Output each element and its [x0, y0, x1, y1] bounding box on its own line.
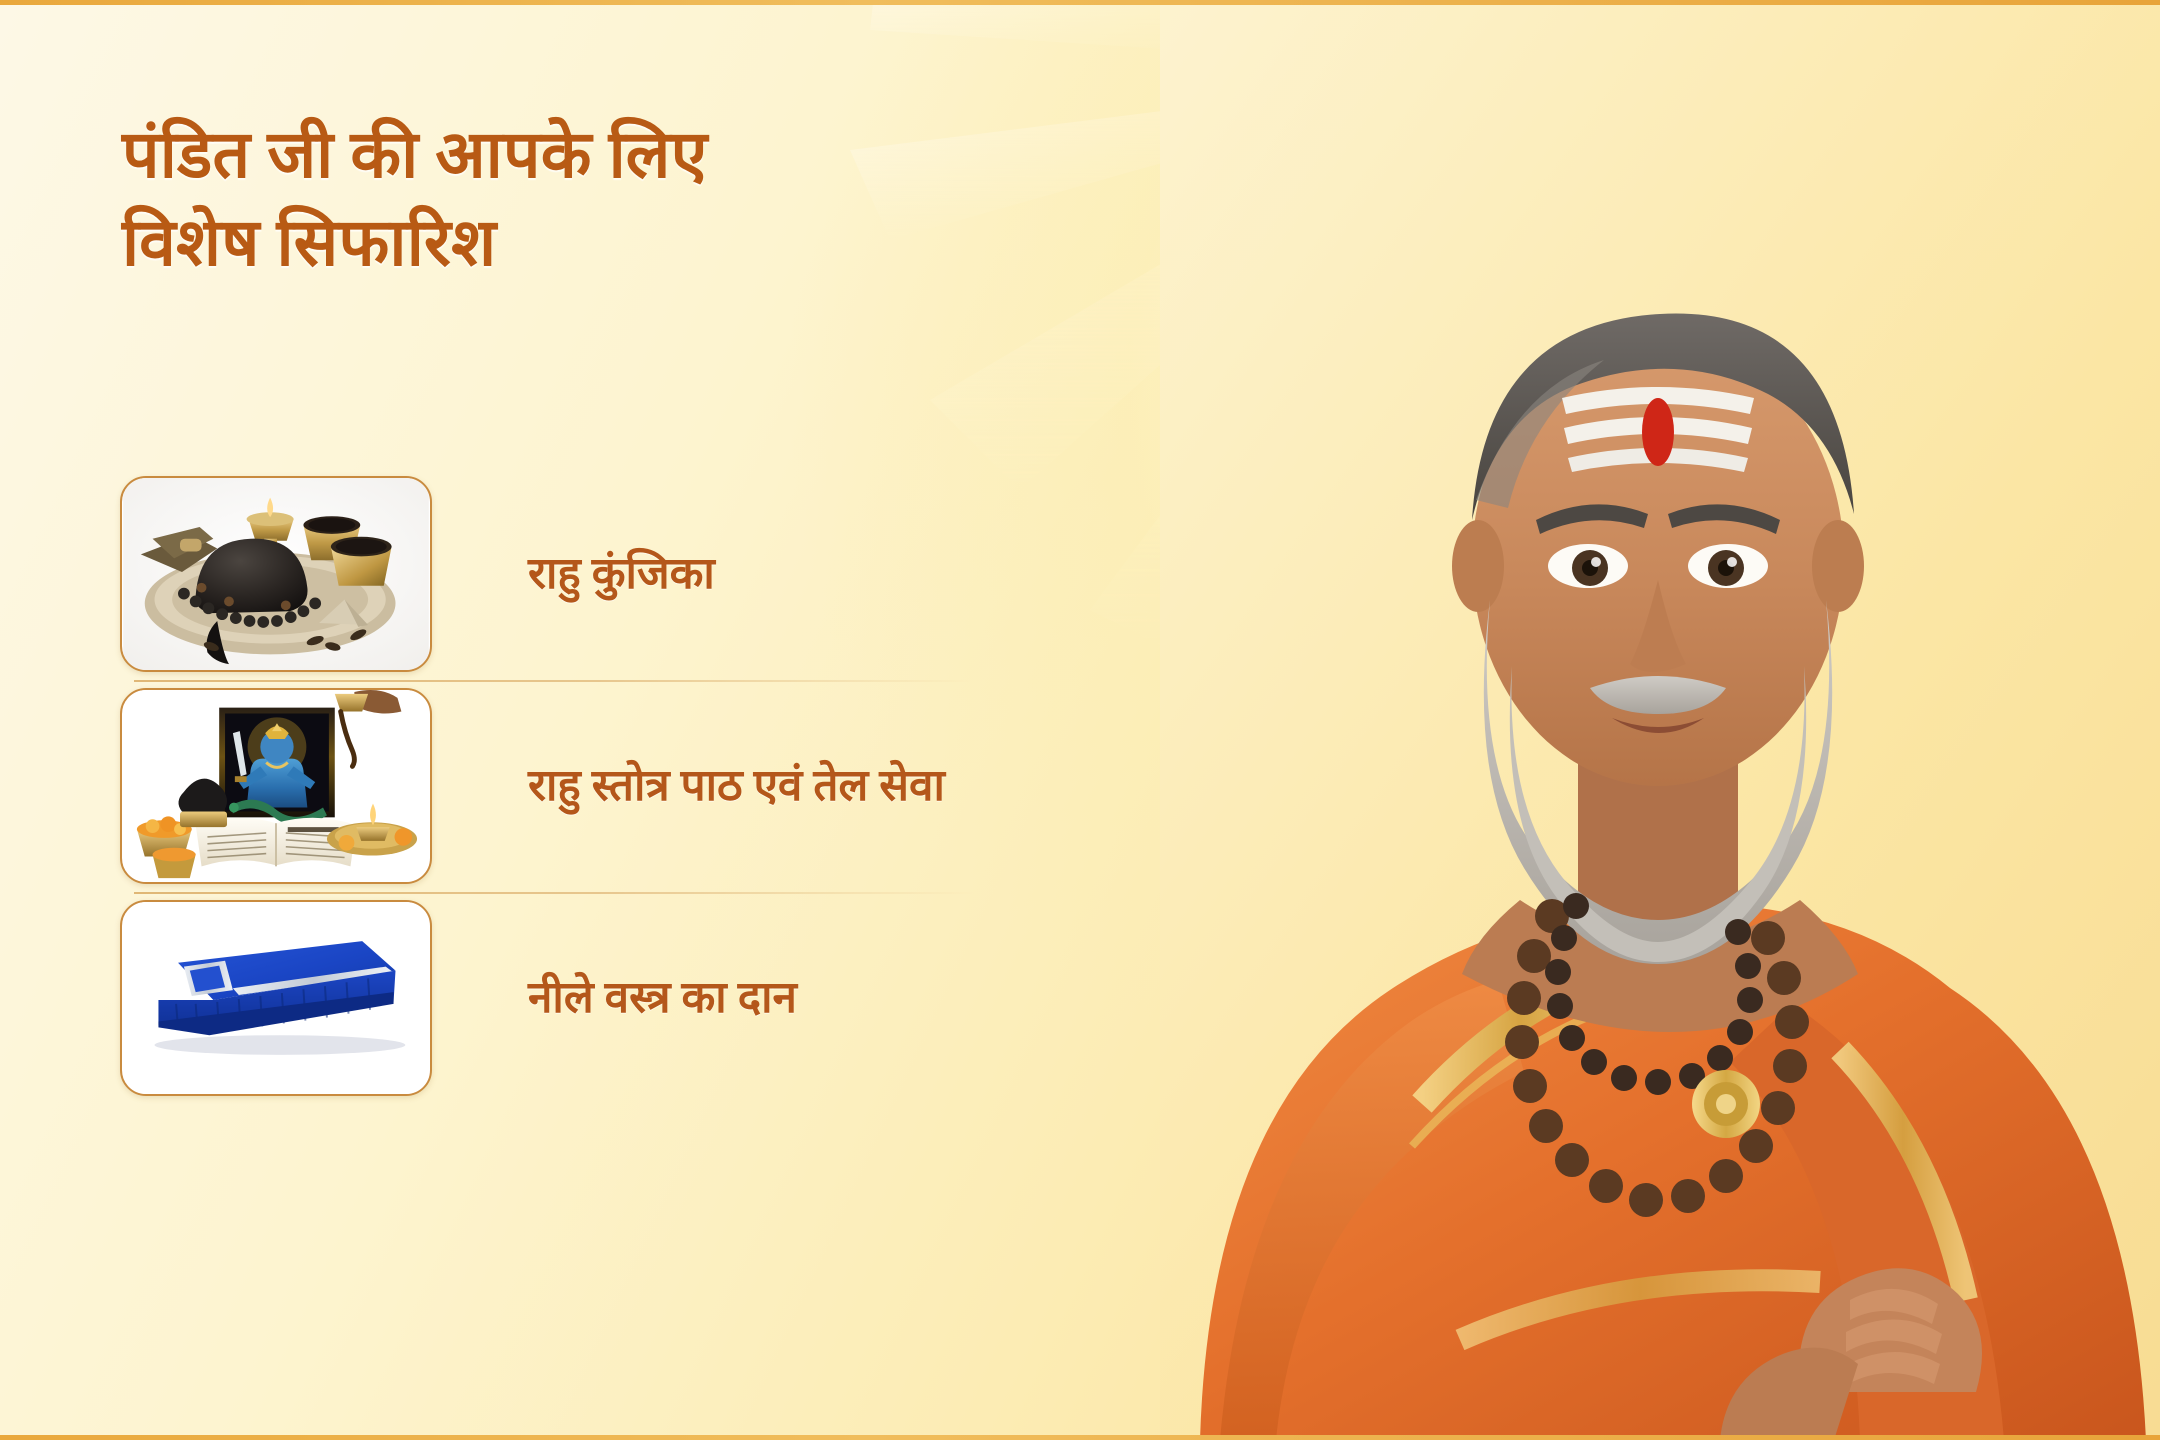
list-item-label: राहु स्तोत्र पाठ एवं तेल सेवा: [432, 760, 1160, 813]
list-item[interactable]: नीले वस्त्र का दान: [120, 892, 1160, 1104]
list-item-label: राहु कुंजिका: [432, 548, 1160, 601]
page-title-line-2: विशेष सिफारिश: [122, 200, 1182, 288]
page-title-line-1: पंडित जी की आपके लिए: [122, 112, 1182, 200]
bottom-gold-rule: [0, 1435, 2160, 1440]
recommendation-list: राहु कुंजिका: [120, 468, 1160, 1104]
pandit-ji-portrait: [1160, 0, 2160, 1440]
top-gold-rule: [0, 0, 2160, 5]
rahu-idol-book-oil-offering-thumbnail[interactable]: [120, 688, 432, 884]
content-column: पंडित जी की आपके लिए विशेष सिफारिश: [0, 0, 1220, 1440]
promo-banner: पंडित जी की आपके लिए विशेष सिफारिश: [0, 0, 2160, 1440]
list-item[interactable]: राहु स्तोत्र पाठ एवं तेल सेवा: [120, 680, 1160, 892]
puja-thali-black-cloth-rudraksha-thumbnail[interactable]: [120, 476, 432, 672]
folded-blue-cloth-thumbnail[interactable]: [120, 900, 432, 1096]
list-item[interactable]: राहु कुंजिका: [120, 468, 1160, 680]
list-item-label: नीले वस्त्र का दान: [432, 972, 1160, 1025]
page-title: पंडित जी की आपके लिए विशेष सिफारिश: [122, 112, 1182, 289]
